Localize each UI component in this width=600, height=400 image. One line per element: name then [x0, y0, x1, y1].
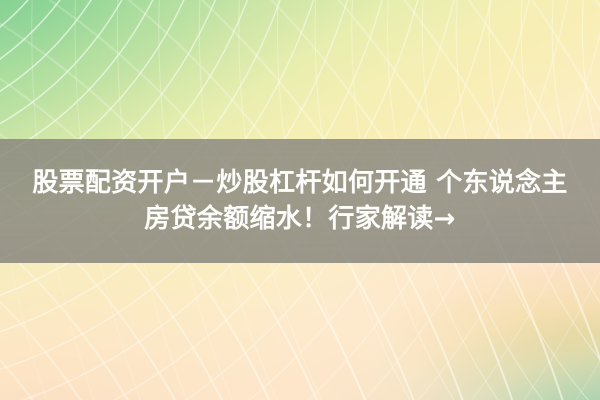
banner-canvas: 股票配资开户－炒股杠杆如何开通 个东说念主 房贷余额缩水！行家解读→ — [0, 0, 600, 400]
headline: 股票配资开户－炒股杠杆如何开通 个东说念主 房贷余额缩水！行家解读→ — [0, 139, 600, 263]
headline-line-1: 股票配资开户－炒股杠杆如何开通 个东说念主 — [32, 168, 567, 198]
headline-line-2: 房贷余额缩水！行家解读→ — [144, 204, 455, 234]
